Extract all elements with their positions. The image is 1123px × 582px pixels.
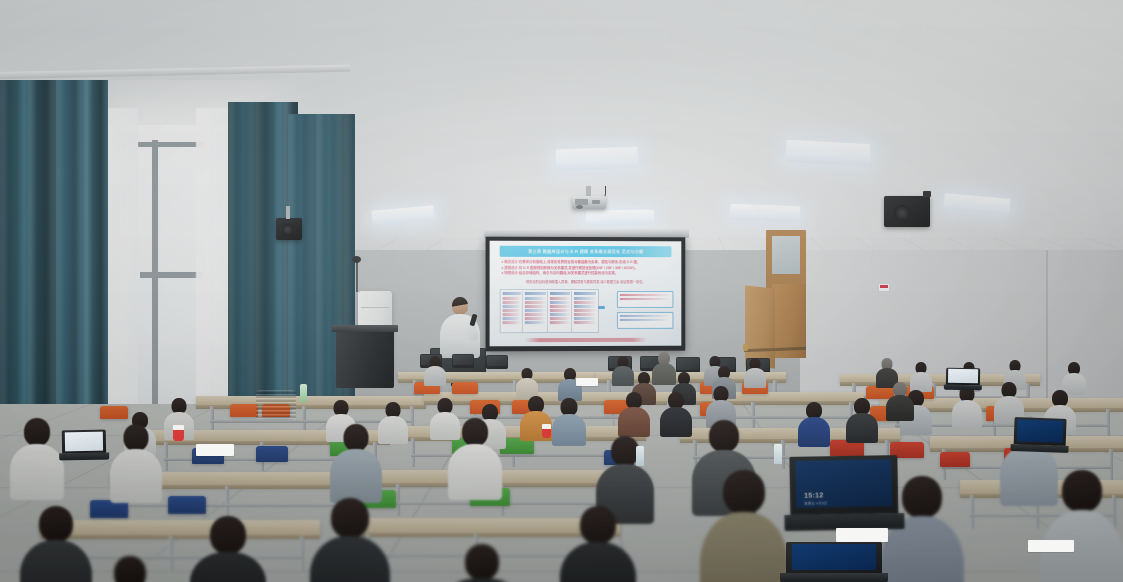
desk-leg (302, 406, 306, 432)
person-head (462, 418, 488, 446)
light-panel-3 (556, 147, 639, 171)
wall-speaker-left (276, 218, 302, 240)
student-laptop-back[interactable] (946, 368, 980, 391)
student-laptop-right[interactable] (1013, 417, 1066, 453)
desk-leg (970, 495, 974, 529)
person-head (1062, 470, 1102, 512)
notebook-papers-2 (576, 378, 598, 386)
person-torso (846, 413, 878, 443)
light-panel-5 (785, 140, 870, 166)
projector-lens (576, 205, 583, 209)
desk-leg (164, 442, 168, 471)
window-frame-top (138, 142, 204, 147)
audience-member-far-4 (744, 358, 766, 390)
classroom-photo: 第三章 数据库设计与 E-R 建模 关系模式规范化 范式与分解 ● 概念设计:在… (0, 0, 1123, 582)
chair-orange[interactable] (230, 404, 258, 417)
audience-member-near-1 (10, 418, 64, 502)
person-torso (190, 552, 266, 582)
person-head (344, 424, 369, 451)
student-laptop-left[interactable] (62, 430, 107, 461)
wall-speaker-right (884, 196, 930, 227)
audience-member-far-1 (612, 356, 634, 388)
person-torso (660, 407, 692, 437)
person-head (124, 424, 149, 451)
person-torso (310, 536, 390, 582)
desk-leg (210, 406, 214, 432)
audience-member-near-16 (96, 556, 164, 582)
water-bottle-3 (774, 444, 782, 464)
water-bottle (300, 384, 307, 402)
slide-bullet-2: ● 逻辑设计:将 E-R 图按规则转换为关系模式,并进行规范化处理(1NF / … (501, 266, 672, 271)
person-torso (448, 444, 502, 500)
person-torso (612, 366, 634, 386)
person-torso (378, 416, 408, 444)
chair-blue[interactable] (168, 496, 206, 514)
podium-top (332, 325, 398, 332)
audience-member-mid-15 (952, 386, 982, 430)
desk-leg (225, 486, 229, 518)
audience-member-near-9 (190, 516, 266, 582)
window-mullion-horizontal (140, 272, 202, 278)
audience-member-near-2 (110, 424, 162, 505)
audience-member-near-14 (1040, 470, 1123, 582)
person-head (114, 556, 146, 582)
person-head (331, 498, 369, 538)
audience-member-near-4 (448, 418, 502, 502)
person-torso (446, 578, 518, 582)
audience-member-near-3 (330, 424, 382, 505)
light-panel-4 (586, 209, 654, 225)
audience-member-mid-13 (846, 398, 878, 445)
door-glass-panel (772, 236, 800, 274)
lecturer-podium (336, 330, 394, 388)
audience-member-mid-9 (618, 392, 650, 439)
laptop-lock-date: 星期五 4月8日 (804, 500, 827, 505)
person-torso (744, 368, 766, 388)
slide-flow-arrow (597, 306, 604, 309)
presenter (437, 297, 483, 359)
chair-blue[interactable] (256, 446, 288, 462)
person-torso (552, 414, 586, 446)
door-handle[interactable] (743, 344, 748, 351)
desk-rail (57, 556, 303, 559)
desk-leg (300, 536, 304, 572)
audience-member-mid-4 (378, 402, 408, 446)
callout-box-2 (617, 312, 674, 329)
backpack-on-desk (256, 390, 296, 420)
gooseneck-microphone (356, 262, 358, 292)
person-torso (330, 449, 382, 503)
window-mullion-vertical (152, 140, 158, 440)
water-bottle-2 (636, 446, 644, 466)
person-torso (110, 449, 162, 503)
person-head (902, 476, 942, 518)
slide-bullet-1: ● 概念设计:在需求分析基础上,将现实世界的业务对象抽象为实体、属性与联系,形成… (501, 260, 672, 265)
person-head (611, 436, 639, 466)
audience-member-mid-12 (798, 402, 830, 449)
person-torso (952, 400, 982, 428)
person-torso (700, 512, 788, 582)
classroom-monitor (486, 355, 508, 369)
chair-red[interactable] (940, 452, 970, 467)
desk-leg (1106, 409, 1110, 437)
door-leaf[interactable] (745, 285, 775, 368)
audience-member-near-10 (310, 498, 390, 582)
notebook-papers-4 (1028, 540, 1074, 552)
slide-title: 第三章 数据库设计与 E-R 建模 关系模式规范化 范式与分解 (499, 246, 672, 257)
audience-member-mid-8 (552, 398, 586, 448)
person-torso (516, 378, 538, 398)
person-head (24, 418, 50, 446)
desk-leg (169, 536, 173, 572)
classroom-monitor (676, 357, 700, 373)
light-panel-6 (730, 204, 801, 222)
audience-member-near-15 (446, 544, 518, 582)
person-torso (560, 542, 636, 582)
person-torso (10, 444, 64, 500)
audience-member-mid-18 (886, 382, 914, 423)
red-paper-cup-2 (542, 424, 551, 438)
slide-footer-bar (524, 338, 647, 342)
person-head (723, 470, 765, 514)
person-torso (618, 407, 650, 437)
projection-screen: 第三章 数据库设计与 E-R 建模 关系模式规范化 范式与分解 ● 概念设计:在… (486, 237, 686, 352)
slide-bullet-3: ● 物理设计:结合存储结构、索引与访问路径,对关系模式进行性能优化与实现。 (501, 271, 672, 276)
person-torso (886, 395, 914, 421)
student-laptop[interactable]: 15:12 星期五 4月8日 (789, 455, 898, 531)
audience-member-near-8 (20, 506, 92, 582)
student-laptop-foreground[interactable] (786, 542, 882, 582)
callout-box-1 (617, 291, 674, 308)
notebook-papers-3 (836, 528, 888, 542)
classroom-monitor (452, 354, 474, 368)
desk-leg (411, 438, 415, 467)
emergency-notice-sign (878, 283, 890, 292)
slide-diagram-table (499, 289, 599, 333)
person-head (210, 516, 246, 554)
audience-member-far-10 (424, 356, 446, 388)
microphone-head (352, 256, 361, 263)
person-torso (798, 417, 830, 447)
audience-member-mid-10 (660, 392, 692, 439)
person-head (39, 506, 73, 542)
person-head (580, 506, 616, 544)
person-head (465, 544, 499, 580)
red-paper-cup (173, 425, 184, 441)
slide-center-note: 规范化的目标是消除插入异常、删除异常与更新异常,减少数据冗余,保证数据一致性。 (509, 280, 662, 284)
audience-member-near-11 (560, 506, 636, 582)
speaker-bracket-left (286, 206, 290, 219)
presentation-slide: 第三章 数据库设计与 E-R 建模 关系模式规范化 范式与分解 ● 概念设计:在… (490, 241, 682, 347)
desk-leg (396, 484, 400, 516)
notebook-papers (196, 444, 234, 456)
person-torso (20, 540, 92, 582)
chair-orange[interactable] (452, 382, 478, 394)
audience-member-near-12 (700, 470, 788, 582)
person-torso (424, 366, 446, 386)
person-head (709, 420, 739, 452)
